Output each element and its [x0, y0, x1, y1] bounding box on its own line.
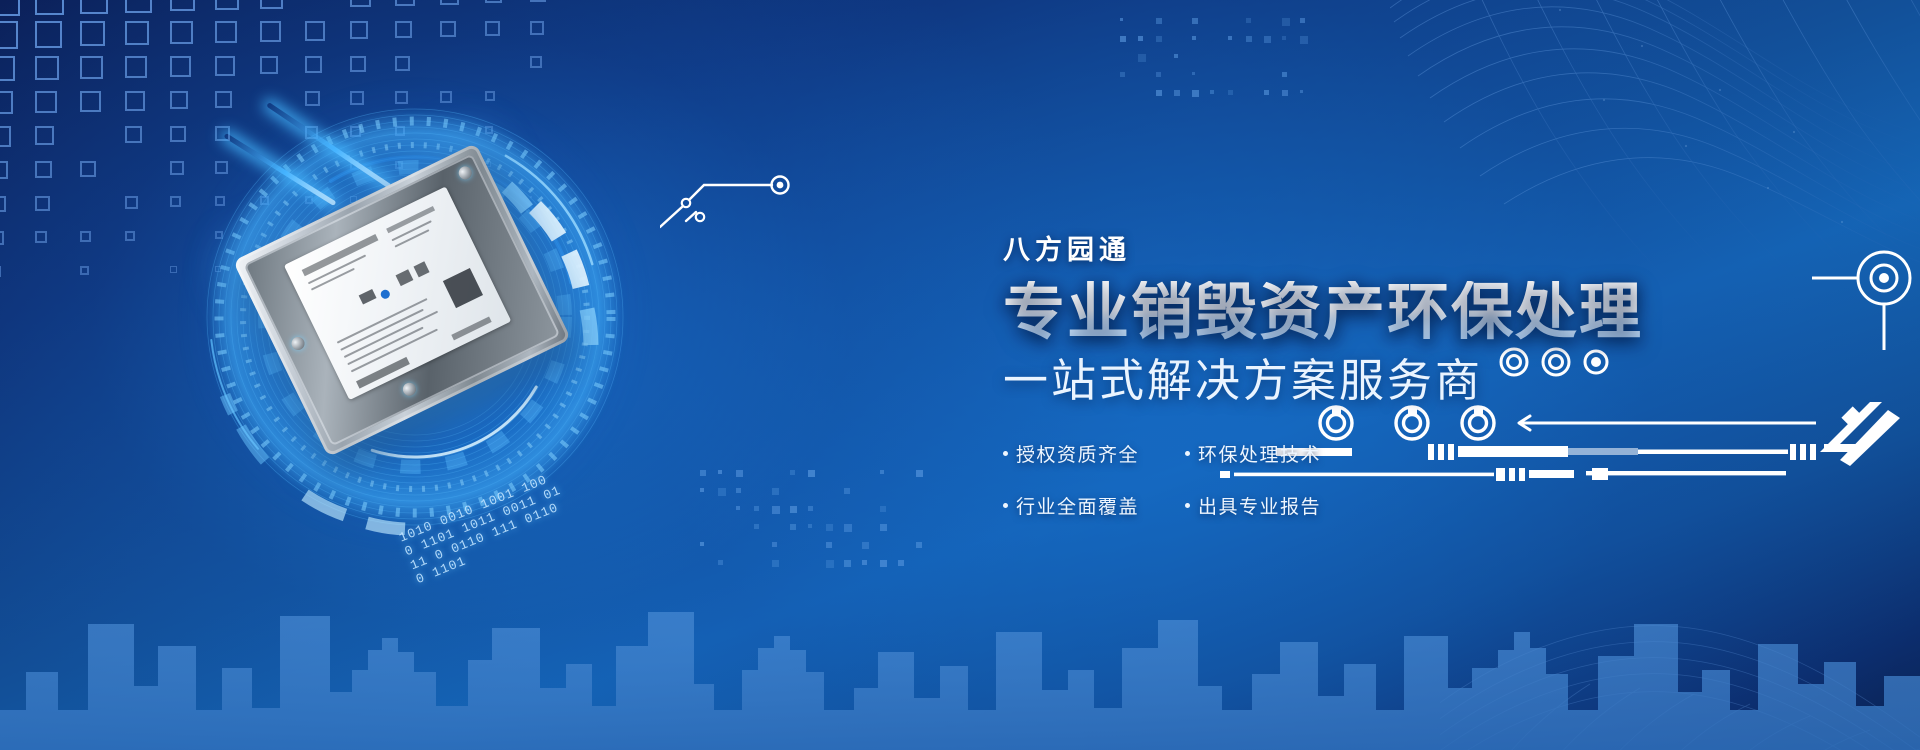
grid-square — [260, 56, 278, 74]
feature-label: 授权资质齐全 — [1016, 440, 1139, 467]
list-item: 行业全面覆盖 — [1003, 492, 1171, 519]
chip-connector-icon — [1806, 232, 1920, 362]
grid-square — [125, 196, 138, 209]
pixel-dot — [1174, 90, 1180, 96]
list-item: 环保处理技术 — [1185, 440, 1353, 467]
pixel-dot — [1192, 90, 1199, 97]
grid-square — [350, 21, 368, 39]
pixel-dot — [1120, 18, 1123, 21]
grid-square — [35, 126, 54, 145]
hdd-tech-ring-graphic: 1010 0010 1001 100 0 1101 1011 0011 01 1… — [155, 95, 675, 535]
pixel-dot — [1246, 36, 1252, 42]
list-item: 授权资质齐全 — [1003, 440, 1171, 467]
pixel-dot — [808, 506, 813, 511]
grid-square — [0, 196, 6, 212]
pixel-dot — [880, 506, 886, 512]
pixel-dot — [1246, 18, 1251, 23]
pixel-dot — [772, 506, 780, 514]
pixel-dot — [880, 470, 884, 474]
grid-square — [170, 0, 195, 11]
grid-square — [170, 21, 193, 44]
grid-square — [440, 21, 456, 37]
grid-square — [350, 56, 366, 72]
hdd-label — [284, 186, 512, 400]
pixel-dot — [1282, 90, 1288, 96]
banner-copy: 八方园通 专业销毁资产环保处理 一站式解决方案服务商 授权资质齐全 环保处理技术… — [1003, 228, 1703, 519]
pixel-dot-field-top — [1120, 18, 1320, 108]
pixel-dot — [1156, 90, 1162, 96]
pixel-dot — [736, 506, 740, 510]
grid-square — [215, 21, 237, 43]
grid-square — [395, 0, 415, 6]
page-title: 专业销毁资产环保处理 — [1003, 281, 1703, 345]
hdd-screw — [401, 381, 418, 398]
grid-square — [530, 21, 544, 35]
pixel-dot — [1120, 36, 1126, 42]
grid-square — [125, 231, 135, 241]
grid-square — [125, 126, 142, 143]
pixel-dot — [736, 488, 741, 493]
hero-banner: 1010 0010 1001 100 0 1101 1011 0011 01 1… — [0, 0, 1920, 750]
grid-square — [170, 56, 191, 77]
hdd-screw — [457, 164, 474, 181]
pixel-dot — [1156, 18, 1162, 24]
bullet-dot-icon — [1003, 503, 1008, 508]
grid-square — [80, 21, 105, 46]
grid-square — [80, 0, 108, 14]
grid-square — [0, 161, 8, 179]
feature-label: 行业全面覆盖 — [1016, 492, 1139, 519]
pixel-dot — [700, 470, 706, 476]
brand-name: 八方园通 — [1003, 228, 1703, 267]
grid-square — [80, 161, 96, 177]
grid-square — [80, 231, 91, 242]
pixel-dot — [700, 488, 704, 492]
grid-square — [35, 196, 50, 211]
grid-square — [395, 56, 410, 71]
grid-square — [350, 0, 371, 7]
city-silhouette-icon — [0, 520, 1920, 750]
grid-square — [395, 21, 412, 38]
pixel-dot — [718, 488, 726, 496]
feature-label: 环保处理技术 — [1198, 440, 1321, 467]
subheadline: 一站式解决方案服务商 — [1003, 356, 1703, 406]
pixel-dot — [844, 488, 850, 494]
grid-square — [35, 91, 57, 113]
grid-square — [0, 56, 15, 81]
bullet-dot-icon — [1185, 503, 1190, 508]
pixel-dot — [790, 470, 795, 475]
grid-square — [215, 56, 235, 76]
grid-square — [485, 21, 500, 36]
pixel-dot — [1282, 72, 1287, 77]
pixel-dot — [1174, 54, 1178, 58]
pixel-dot — [1192, 72, 1195, 75]
pixel-dot — [916, 470, 923, 477]
grid-square — [125, 0, 152, 13]
hdd-screw — [289, 335, 306, 352]
pixel-dot — [1228, 90, 1233, 95]
grid-square — [0, 266, 1, 277]
grid-square — [35, 0, 64, 15]
pixel-dot — [1156, 72, 1161, 77]
pixel-dot — [1120, 72, 1125, 77]
grid-square — [80, 56, 103, 79]
pixel-dot — [1300, 18, 1305, 23]
pixel-dot — [718, 470, 722, 474]
pixel-dot — [754, 506, 759, 511]
pixel-dot — [1264, 36, 1271, 43]
pixel-dot — [808, 470, 815, 477]
pixel-dot — [1210, 90, 1214, 94]
pixel-dot — [1300, 36, 1308, 44]
grid-square — [80, 266, 89, 275]
grid-square — [215, 0, 239, 10]
bullet-dot-icon — [1185, 451, 1190, 456]
grid-square — [0, 0, 20, 16]
grid-square — [125, 91, 145, 111]
grid-square — [125, 56, 147, 78]
grid-square — [35, 231, 47, 243]
grid-square — [260, 21, 281, 42]
grid-square — [305, 21, 325, 41]
grid-square — [0, 231, 4, 245]
pixel-dot — [790, 506, 797, 513]
connector-line-icon — [660, 175, 800, 235]
pixel-dot — [1192, 18, 1198, 24]
feature-label: 出具专业报告 — [1198, 492, 1321, 519]
pixel-dot — [1282, 18, 1290, 26]
pixel-dot — [1300, 90, 1303, 93]
bullet-dot-icon — [1003, 451, 1008, 456]
grid-square — [440, 0, 459, 5]
grid-square — [485, 0, 502, 3]
pixel-dot — [736, 470, 743, 477]
pixel-dot — [1264, 90, 1269, 95]
grid-square — [80, 91, 101, 112]
pixel-dot — [1156, 36, 1162, 42]
grid-square — [260, 0, 283, 9]
list-item: 出具专业报告 — [1185, 492, 1353, 519]
grid-square — [125, 21, 149, 45]
feature-list: 授权资质齐全 环保处理技术 行业全面覆盖 出具专业报告 — [1003, 440, 1703, 519]
grid-square — [0, 21, 18, 49]
grid-square — [530, 56, 542, 68]
pixel-dot — [772, 488, 779, 495]
pixel-dot — [1192, 36, 1196, 40]
pixel-dot — [1228, 36, 1232, 40]
grid-square — [0, 126, 11, 147]
pixel-dot — [1138, 54, 1146, 62]
pixel-dot — [1138, 36, 1143, 41]
pixel-dot — [1282, 36, 1286, 40]
grid-square — [0, 91, 13, 114]
grid-square — [35, 56, 59, 80]
grid-square — [35, 161, 52, 178]
grid-square — [35, 21, 62, 48]
grid-square — [530, 0, 546, 2]
grid-square — [305, 56, 322, 73]
